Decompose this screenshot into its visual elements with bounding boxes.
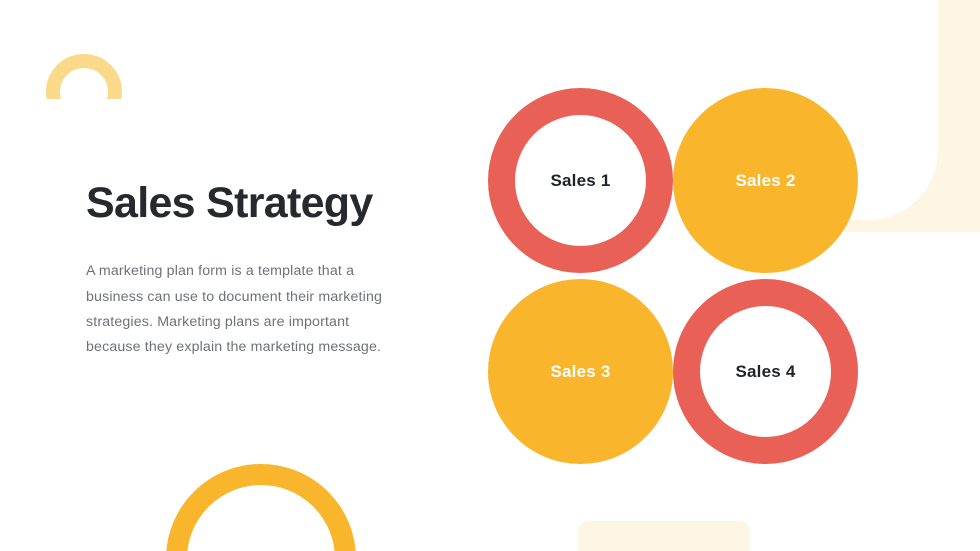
slide-canvas: Sales Strategy A marketing plan form is …: [0, 0, 980, 551]
sales-circle-2-label: Sales 2: [735, 171, 795, 191]
sales-circle-2[interactable]: Sales 2: [673, 88, 858, 273]
slide-description: A marketing plan form is a template that…: [86, 259, 386, 360]
sales-circle-1-label: Sales 1: [550, 171, 610, 191]
sales-circle-3[interactable]: Sales 3: [488, 279, 673, 464]
page-title: Sales Strategy: [86, 180, 386, 227]
sales-circle-grid: Sales 1 Sales 2 Sales 3 Sales 4: [488, 88, 858, 464]
cream-tab-bottom-shape: [578, 521, 750, 551]
sales-circle-4-label: Sales 4: [735, 362, 795, 382]
sales-circle-4[interactable]: Sales 4: [673, 279, 858, 464]
sales-circle-1[interactable]: Sales 1: [488, 88, 673, 273]
yellow-arc-bottom-left-shape: [166, 464, 356, 551]
text-column: Sales Strategy A marketing plan form is …: [86, 180, 386, 360]
pale-yellow-arc-top-left-shape: [46, 54, 136, 99]
sales-circle-3-label: Sales 3: [550, 362, 610, 382]
